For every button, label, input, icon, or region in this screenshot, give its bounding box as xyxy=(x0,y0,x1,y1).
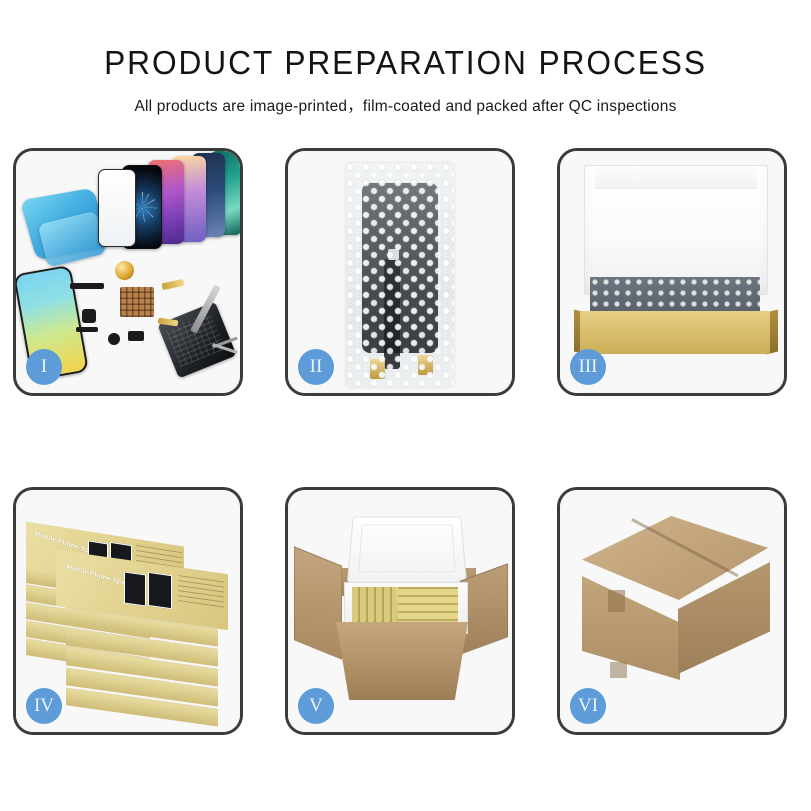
step-panel-2: II xyxy=(285,148,515,396)
gold-box-front-panel xyxy=(580,323,770,354)
gold-box-stack: Mobile Phone Spare Parts Mobile Phone Sp… xyxy=(24,510,238,720)
step-panel-4: Mobile Phone Spare Parts Mobile Phone Sp… xyxy=(13,487,243,735)
speaker-strip-part-icon xyxy=(70,283,104,289)
step-panel-6: VI xyxy=(557,487,787,735)
step-badge-2: II xyxy=(298,349,334,385)
bubble-wrap-sleeve xyxy=(346,163,454,387)
box-window-front-1 xyxy=(124,571,146,606)
gold-boxes-inside-foam xyxy=(352,587,458,627)
step-badge-4: IV xyxy=(26,688,62,724)
ic-chip-part-icon xyxy=(128,331,144,341)
carton-front-wall xyxy=(336,622,468,700)
bubble-wrap-texture xyxy=(346,163,454,387)
chip-grid-part-icon xyxy=(120,287,154,317)
white-box-lid-icon xyxy=(584,165,768,295)
gold-coil-part-icon xyxy=(115,261,134,280)
step-badge-3: III xyxy=(570,349,606,385)
page-subtitle: All products are image-printed，film-coat… xyxy=(0,82,811,116)
step-panel-1: I xyxy=(13,148,243,396)
box-spec-lines-front xyxy=(178,575,224,607)
carton-tape-mark-2 xyxy=(610,662,627,678)
page-header: PRODUCT PREPARATION PROCESS All products… xyxy=(0,0,811,116)
step-panel-5: V xyxy=(285,487,515,735)
step-badge-5: V xyxy=(298,688,334,724)
carton-tape-mark-1 xyxy=(608,590,625,612)
step-badge-6: VI xyxy=(570,688,606,724)
gold-boxes-group-right xyxy=(398,587,458,627)
box-window-front-2 xyxy=(148,572,172,609)
home-button-part-icon xyxy=(108,333,120,345)
phone-white-glass-icon xyxy=(98,169,136,247)
foam-box-lid-icon xyxy=(347,517,467,583)
step-badge-1: I xyxy=(26,349,62,385)
gold-boxes-group-left xyxy=(352,587,396,627)
carton-flap-left xyxy=(294,546,342,659)
step-panel-3: III xyxy=(557,148,787,396)
process-steps-grid: I II III xyxy=(13,148,798,798)
small-strip-part-icon xyxy=(76,327,98,332)
camera-module-part-icon xyxy=(82,309,96,323)
gold-flex-cable-icon xyxy=(162,279,185,290)
page-title: PRODUCT PREPARATION PROCESS xyxy=(16,0,795,82)
